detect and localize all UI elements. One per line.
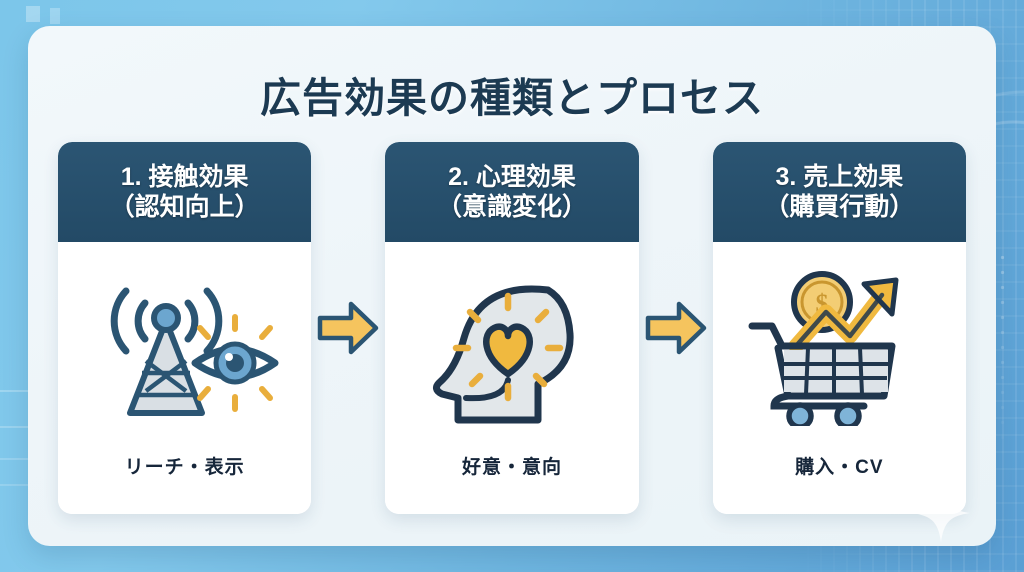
stage-card-body: リーチ・表示 bbox=[58, 242, 311, 514]
stage-card-header: 2. 心理効果 （意識変化） bbox=[385, 142, 638, 242]
stage-heading-line2: （認知向上） bbox=[110, 192, 260, 223]
stage-card-psychology[interactable]: 2. 心理効果 （意識変化） bbox=[385, 142, 638, 514]
stage-card-header: 1. 接触効果 （認知向上） bbox=[58, 142, 311, 242]
slide-canvas: 広告効果の種類とプロセス 1. 接触効果 （認知向上） bbox=[0, 0, 1024, 572]
stage-card-sales[interactable]: 3. 売上効果 （購買行動） $ bbox=[713, 142, 966, 514]
arrow-right-icon bbox=[311, 142, 385, 514]
stage-heading-line2: （意識変化） bbox=[437, 192, 587, 223]
stage-card-contact[interactable]: 1. 接触効果 （認知向上） bbox=[58, 142, 311, 514]
head-heart-icon bbox=[420, 258, 605, 438]
stage-caption: リーチ・表示 bbox=[125, 452, 245, 479]
arrow-right-icon bbox=[639, 142, 713, 514]
content-panel: 広告効果の種類とプロセス 1. 接触効果 （認知向上） bbox=[28, 26, 996, 546]
stage-heading-line2: （購買行動） bbox=[764, 192, 914, 223]
stage-heading-line1: 1. 接触効果 bbox=[121, 162, 249, 193]
stage-card-body: $ bbox=[713, 242, 966, 514]
stage-heading-line1: 3. 売上効果 bbox=[775, 162, 903, 193]
shopping-cart-growth-icon: $ bbox=[744, 258, 934, 438]
stage-card-header: 3. 売上効果 （購買行動） bbox=[713, 142, 966, 242]
stage-caption: 購入・CV bbox=[795, 452, 883, 479]
broadcast-tower-eye-icon bbox=[90, 258, 280, 438]
process-flow: 1. 接触効果 （認知向上） bbox=[58, 142, 966, 514]
stage-heading-line1: 2. 心理効果 bbox=[448, 162, 576, 193]
stage-caption: 好意・意向 bbox=[462, 452, 562, 479]
stage-card-body: 好意・意向 bbox=[385, 242, 638, 514]
page-title: 広告効果の種類とプロセス bbox=[28, 64, 996, 124]
